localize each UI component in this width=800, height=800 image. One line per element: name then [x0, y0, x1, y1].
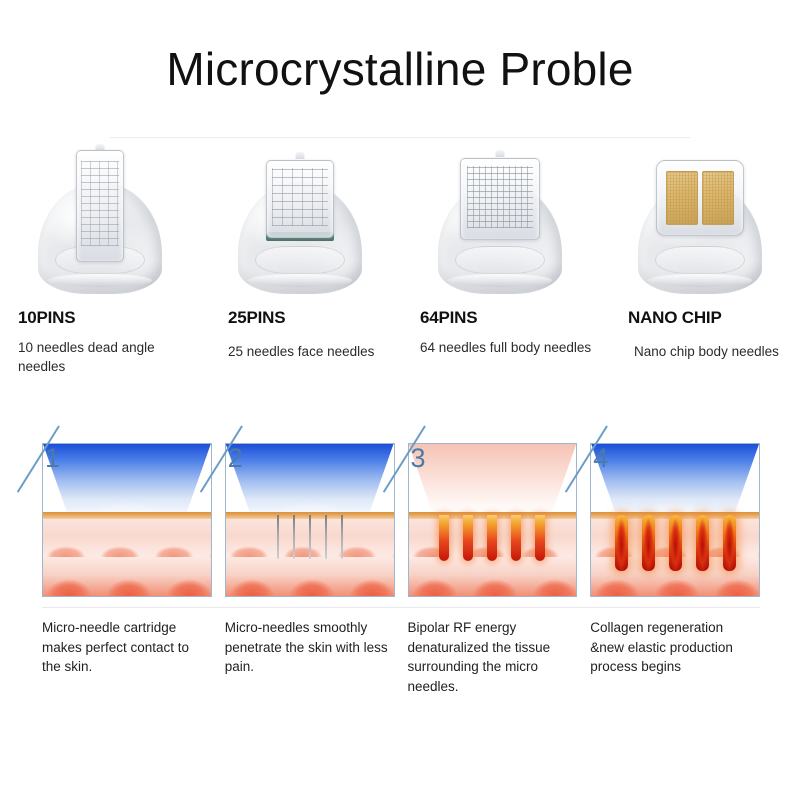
- needle-grid: [81, 161, 120, 246]
- needles-penetrating-skin-diagram: [225, 443, 395, 597]
- collagen-regeneration-diagram: [590, 443, 760, 597]
- cartridge-25pins-icon: [234, 144, 366, 294]
- rf-needle: [487, 515, 497, 561]
- rf-needle: [439, 515, 449, 561]
- product-card-25pins[interactable]: 25PINS 25 needles face needles: [200, 140, 400, 400]
- step-caption-1: Micro-needle cartridge makes perfect con…: [42, 618, 212, 696]
- needle: [309, 515, 311, 559]
- product-card-10pins[interactable]: 10PINS 10 needles dead angle needles: [0, 140, 200, 400]
- page-title: Microcrystalline Proble: [0, 44, 800, 95]
- heat-zone: [615, 515, 628, 571]
- product-list: 10PINS 10 needles dead angle needles 25P…: [0, 140, 800, 400]
- page-header: Microcrystalline Proble: [0, 44, 800, 95]
- product-name: 10PINS: [0, 308, 200, 328]
- needle: [325, 515, 327, 559]
- dermis-wave-upper: [42, 531, 212, 557]
- step-caption-4: Collagen regeneration &new elastic produ…: [590, 618, 760, 696]
- rf-needle: [535, 515, 545, 561]
- product-name: 64PINS: [400, 308, 600, 328]
- step-number: 1: [45, 445, 60, 472]
- heat-zone: [642, 515, 655, 571]
- step-number: 3: [411, 445, 426, 472]
- step-1: 1: [42, 443, 212, 597]
- needle-grid: [467, 166, 533, 228]
- product-description: 25 needles face needles: [200, 342, 400, 361]
- rf-needle: [463, 515, 473, 561]
- nano-pad-right: [702, 171, 734, 226]
- heat-zone: [669, 515, 682, 571]
- nano-gold-pads: [666, 171, 733, 226]
- needle-head-64: [460, 158, 540, 240]
- step-3: 3: [408, 443, 578, 597]
- nano-chip-head: [656, 160, 744, 236]
- skin-cross-section: [43, 512, 211, 596]
- product-name: NANO CHIP: [600, 308, 800, 328]
- step-number: 4: [593, 445, 608, 472]
- cartridge-ring: [255, 246, 344, 274]
- dermis-layer: [43, 519, 211, 596]
- rf-energy-heating-diagram: [408, 443, 578, 597]
- probe-contact-skin-diagram: [42, 443, 212, 597]
- needle-head-10: [76, 150, 124, 262]
- heat-zone: [723, 515, 736, 571]
- dermis-wave-lower: [42, 562, 212, 596]
- product-description: Nano chip body needles: [600, 342, 800, 361]
- step-number: 2: [228, 445, 243, 472]
- epidermis-layer: [43, 512, 211, 519]
- cartridge-nub: [496, 150, 505, 157]
- step-2: 2: [225, 443, 395, 597]
- product-description: 10 needles dead angle needles: [0, 338, 200, 376]
- header-divider: [110, 137, 690, 138]
- collagen-heat-zone-array: [591, 512, 759, 596]
- needle-array: [226, 512, 394, 596]
- needle: [293, 515, 295, 559]
- needle-head-25: [266, 160, 334, 238]
- nano-pad-left: [666, 171, 698, 226]
- steps-divider: [42, 607, 760, 608]
- step-caption-2: Micro-needles smoothly penetrate the ski…: [225, 618, 395, 696]
- product-card-64pins[interactable]: 64PINS 64 needles full body needles: [400, 140, 600, 400]
- product-description: 64 needles full body needles: [400, 338, 600, 357]
- step-4: 4: [590, 443, 760, 597]
- needle: [277, 515, 279, 559]
- rf-needle: [511, 515, 521, 561]
- product-name: 25PINS: [200, 308, 400, 328]
- step-captions: Micro-needle cartridge makes perfect con…: [42, 618, 760, 696]
- rf-heated-needle-array: [409, 512, 577, 596]
- product-card-nano-chip[interactable]: NANO CHIP Nano chip body needles: [600, 140, 800, 400]
- treatment-steps-diagrams: 1 2: [42, 443, 760, 597]
- cartridge-64pins-icon: [434, 144, 566, 294]
- step-caption-3: Bipolar RF energy denaturalized the tiss…: [408, 618, 578, 696]
- cartridge-ring: [455, 246, 544, 274]
- cartridge-nub: [296, 152, 305, 159]
- heat-zone: [696, 515, 709, 571]
- cartridge-10pins-icon: [34, 144, 166, 294]
- cartridge-ring: [655, 246, 744, 274]
- needle: [341, 515, 343, 559]
- needle-grid: [272, 168, 327, 227]
- cartridge-nano-chip-icon: [634, 144, 766, 294]
